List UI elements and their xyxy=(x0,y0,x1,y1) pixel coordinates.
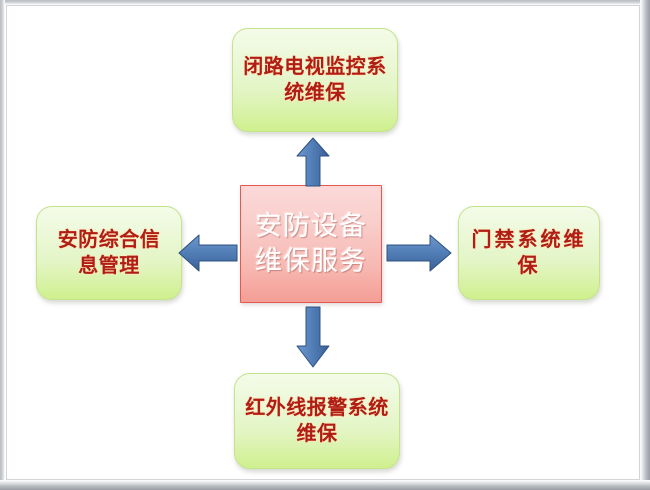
center-node[interactable]: 安防设备维保服务 xyxy=(240,185,382,303)
node-top[interactable]: 闭路电视监控系统维保 xyxy=(232,28,398,132)
arrow-right-icon xyxy=(386,232,452,274)
node-right-label: 门禁系统维保 xyxy=(468,227,590,278)
node-top-label: 闭路电视监控系统维保 xyxy=(240,54,390,105)
frame-edge-top xyxy=(0,0,650,5)
diagram-canvas: 闭路电视监控系统维保 安防综合信息管理 安防设备维保服务 门禁系统维保 红外线报… xyxy=(0,0,650,490)
center-node-label: 安防设备维保服务 xyxy=(249,209,373,279)
arrow-up-icon xyxy=(295,137,331,187)
arrow-down-icon xyxy=(295,306,331,368)
node-bottom-label: 红外线报警系统维保 xyxy=(241,395,393,446)
frame-edge-left xyxy=(0,0,5,490)
node-right[interactable]: 门禁系统维保 xyxy=(458,206,600,300)
frame-edge-right xyxy=(640,0,650,490)
node-left[interactable]: 安防综合信息管理 xyxy=(36,206,182,300)
node-left-label: 安防综合信息管理 xyxy=(51,227,167,278)
node-bottom[interactable]: 红外线报警系统维保 xyxy=(234,373,400,469)
frame-edge-bottom xyxy=(0,480,650,490)
arrow-left-icon xyxy=(178,232,238,274)
